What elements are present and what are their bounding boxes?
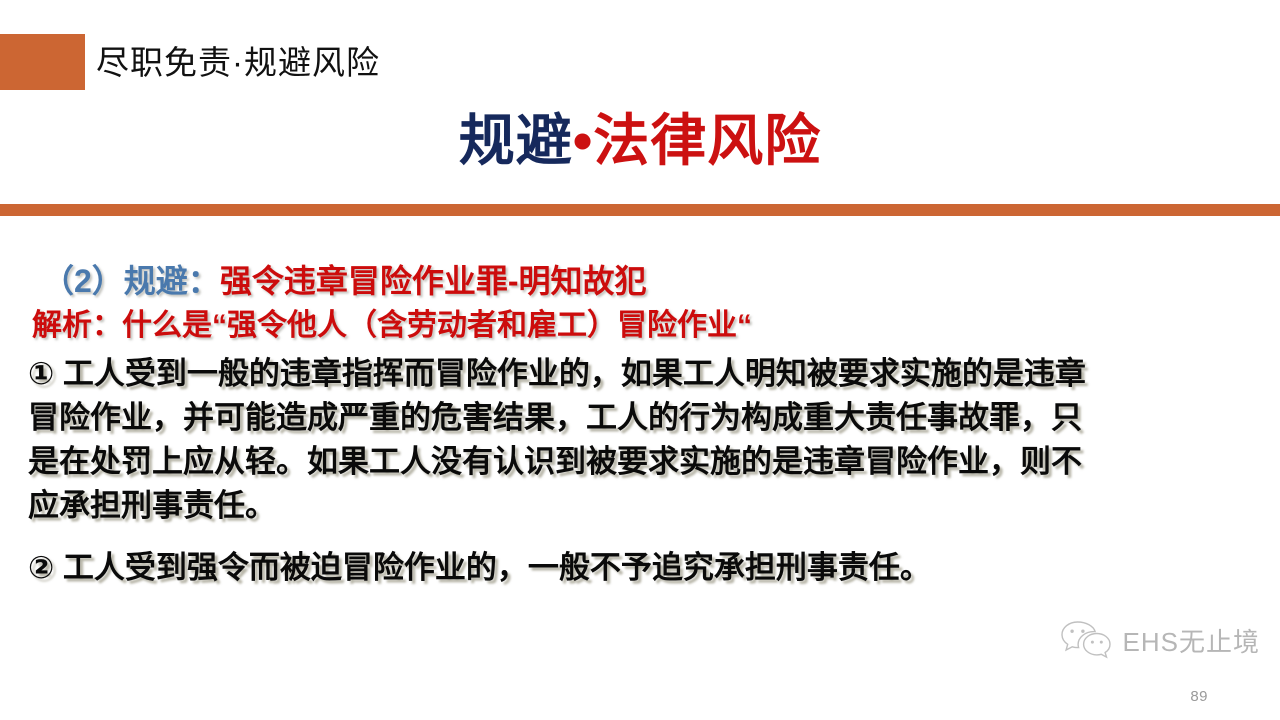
page-title: 规避•法律风险 [0,104,1280,178]
watermark: EHS无止境 [1059,619,1260,664]
section-heading-secondary: 解析：什么是“强令他人（含劳动者和雇工）冒险作业“ [32,306,752,346]
header-accent-block [0,34,85,90]
body-paragraph-line: ② 工人受到强令而被迫冒险作业的，一般不予追究承担刑事责任。 [28,546,931,590]
section-heading-label: （2）规避： [42,263,220,299]
page-title-accent: •法律风险 [573,109,822,172]
page-number: 89 [1190,688,1208,706]
watermark-label: EHS无止境 [1123,627,1260,657]
body-paragraph-line: 应承担刑事责任。 [28,484,276,528]
page-title-primary: 规避 [459,109,573,172]
section-heading-primary: （2）规避：强令违章冒险作业罪-明知故犯 [42,260,646,302]
section-heading-emphasis: 强令违章冒险作业罪-明知故犯 [220,263,647,299]
breadcrumb: 尽职免责·规避风险 [96,40,380,86]
body-paragraph-line: 是在处罚上应从轻。如果工人没有认识到被要求实施的是违章冒险作业，则不 [28,440,1082,484]
header-divider [0,204,1280,216]
body-paragraph-line: 冒险作业，并可能造成严重的危害结果，工人的行为构成重大责任事故罪，只 [28,396,1082,440]
wechat-icon [1059,619,1113,664]
slide-header: 尽职免责·规避风险 规避•法律风险 [0,0,1280,205]
body-paragraph-line: ① 工人受到一般的违章指挥而冒险作业的，如果工人明知被要求实施的是违章 [28,352,1086,396]
